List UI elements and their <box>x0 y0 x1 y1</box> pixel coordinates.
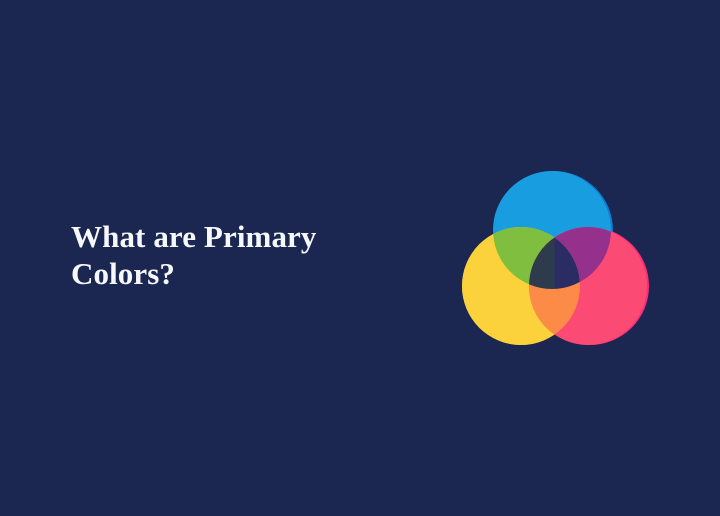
page-title: What are Primary Colors? <box>71 218 401 292</box>
primary-colors-venn-diagram <box>455 162 660 354</box>
venn-diagram-svg <box>455 162 660 354</box>
page-title-line-1: What are Primary <box>71 218 401 255</box>
page-title-line-2: Colors? <box>71 255 401 292</box>
slide-canvas: What are Primary Colors? <box>0 0 720 516</box>
